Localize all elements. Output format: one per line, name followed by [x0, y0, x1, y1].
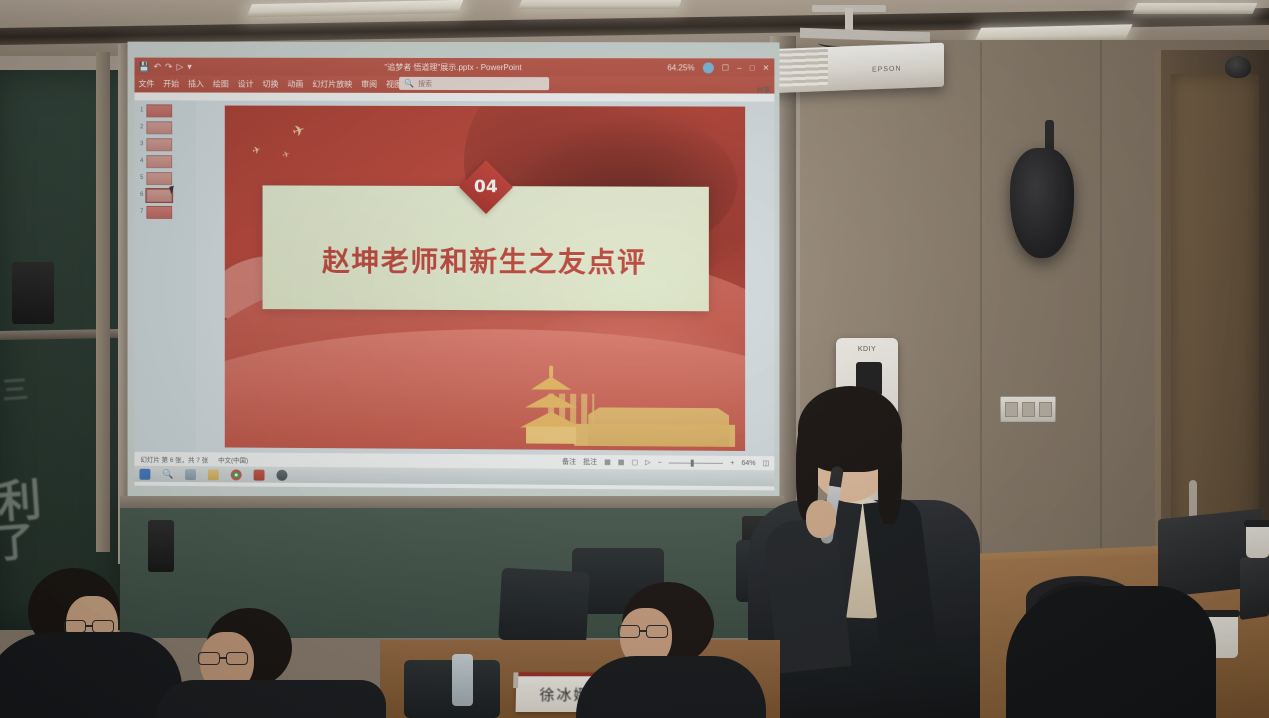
redo-icon[interactable]: ↷	[165, 62, 172, 71]
laptop	[1240, 554, 1269, 620]
start-slideshow-icon[interactable]: ▷	[176, 62, 183, 71]
tab-slideshow[interactable]: 幻灯片放映	[312, 79, 352, 90]
reading-view-icon[interactable]: ▢	[632, 458, 639, 466]
powerpoint-titlebar: 💾 ↶ ↷ ▷ ▾ "追梦者 悟道理"展示.pptx - PowerPoint …	[134, 58, 774, 77]
window-controls[interactable]: 64.25% ☐ – □ ✕	[667, 58, 772, 76]
slide-thumbnail[interactable]	[146, 104, 172, 117]
ceiling-light	[518, 0, 681, 9]
slide-number: 3	[137, 141, 143, 147]
projector-brand-label: EPSON	[872, 65, 902, 73]
file-explorer-icon[interactable]	[208, 469, 219, 480]
tab-animations[interactable]: 动画	[287, 79, 303, 90]
customize-icon[interactable]: ▾	[187, 62, 191, 71]
ceiling-light	[1133, 3, 1258, 14]
slide-thumbnail[interactable]	[146, 121, 172, 134]
chalkboard: 三 利 了	[0, 70, 130, 630]
mouse-cursor-icon	[169, 186, 176, 195]
wall-speaker-left	[12, 262, 54, 324]
notes-button[interactable]: 备注	[562, 457, 576, 467]
current-slide[interactable]: ✈ ✈ ✈	[225, 106, 745, 451]
temple-roof	[525, 393, 577, 407]
bird-icon: ✈	[281, 149, 292, 162]
zoom-slider-knob[interactable]	[691, 459, 694, 466]
start-icon[interactable]	[139, 468, 150, 479]
language-indicator[interactable]: 中文(中国)	[218, 454, 248, 464]
presenter-hand	[806, 500, 836, 538]
tab-review[interactable]: 审阅	[361, 79, 377, 90]
chair	[498, 568, 590, 645]
chrome-icon[interactable]	[231, 469, 242, 480]
search-icon[interactable]: 🔍	[162, 468, 173, 479]
tab-draw[interactable]: 绘图	[213, 79, 229, 90]
door-frame	[1155, 50, 1269, 570]
maximize-button[interactable]: □	[750, 63, 755, 72]
slide-thumbnail[interactable]	[146, 189, 172, 202]
ceiling-camera-dome	[1225, 56, 1251, 78]
glasses-lens	[226, 652, 248, 665]
list-item[interactable]: 5	[134, 171, 195, 185]
switch-button[interactable]	[1022, 402, 1035, 417]
slide-thumbnail[interactable]	[146, 138, 172, 151]
slide-sorter-view-icon[interactable]: ▦	[618, 458, 625, 466]
slide-thumbnail-pane[interactable]: 1 2 3 4 5	[134, 100, 195, 452]
tab-transitions[interactable]: 切换	[263, 79, 279, 90]
comments-button[interactable]: 批注	[583, 457, 597, 467]
slide-thumbnail[interactable]	[146, 205, 172, 218]
list-item[interactable]: 1	[134, 103, 195, 117]
quick-access-toolbar[interactable]: 💾 ↶ ↷ ▷ ▾	[134, 62, 191, 71]
presenter-hair	[878, 420, 902, 524]
search-placeholder: 搜索	[418, 78, 432, 88]
slide-number: 5	[137, 175, 143, 181]
switch-button[interactable]	[1005, 402, 1018, 417]
lower-speaker	[148, 520, 174, 572]
wall-mullion	[96, 52, 110, 552]
zoom-out-button[interactable]: −	[658, 459, 662, 466]
media-icon[interactable]	[276, 469, 287, 480]
slide-number: 1	[137, 107, 143, 113]
share-button[interactable]: 共享	[756, 86, 770, 96]
tab-insert[interactable]: 插入	[188, 79, 204, 90]
glasses-lens	[646, 625, 668, 638]
slide-thumbnail[interactable]	[146, 155, 172, 168]
list-item-selected[interactable]: 6	[134, 188, 195, 202]
wooden-door[interactable]	[1171, 74, 1259, 534]
task-view-icon[interactable]	[185, 469, 196, 480]
slide-thumbnail[interactable]	[146, 172, 172, 185]
zoom-in-button[interactable]: +	[730, 459, 734, 466]
wall-seam	[980, 42, 982, 562]
bird-icon: ✈	[251, 144, 262, 157]
powerpoint-window[interactable]: 💾 ↶ ↷ ▷ ▾ "追梦者 悟道理"展示.pptx - PowerPoint …	[134, 58, 774, 491]
ribbon-strip: 共享	[134, 92, 774, 101]
save-icon[interactable]: 💾	[138, 62, 149, 71]
list-item[interactable]: 3	[134, 137, 195, 151]
slide-number: 6	[137, 192, 143, 198]
normal-view-icon[interactable]: ▦	[604, 458, 611, 466]
slide-number: 4	[137, 158, 143, 164]
light-switch-plate[interactable]	[1000, 396, 1056, 422]
section-number-text: 04	[474, 177, 498, 197]
powerpoint-icon[interactable]	[254, 469, 265, 480]
slide-stage[interactable]: ✈ ✈ ✈	[196, 100, 774, 456]
eyeglasses-icon	[618, 625, 672, 637]
slide-number: 7	[137, 209, 143, 215]
classroom-photo: 三 利 了 KDIY EPSON 💾	[0, 0, 1269, 718]
tab-design[interactable]: 设计	[238, 79, 254, 90]
chalkboard-text: 了	[0, 509, 36, 570]
tab-home[interactable]: 开始	[163, 79, 179, 90]
zoom-slider[interactable]	[669, 462, 723, 463]
nameplate-leg	[513, 672, 518, 688]
cup-lid	[1244, 520, 1269, 527]
glasses-lens	[198, 652, 220, 665]
zoom-badge: 64.25%	[667, 63, 694, 72]
fit-to-window-icon[interactable]: ◫	[763, 459, 770, 467]
coffee-cup	[1246, 524, 1269, 558]
close-button[interactable]: ✕	[763, 63, 770, 72]
tab-file[interactable]: 文件	[138, 78, 154, 89]
powerpoint-body: 1 2 3 4 5	[134, 100, 774, 456]
glasses-lens	[618, 625, 640, 638]
minimize-button[interactable]: –	[737, 63, 741, 72]
audience-body	[0, 632, 182, 718]
temple-of-heaven-graphic	[520, 365, 582, 443]
switch-button[interactable]	[1039, 402, 1052, 417]
water-bottle	[452, 654, 473, 706]
status-bar-right[interactable]: 备注 批注 ▦ ▦ ▢ ▷ − + 64% ◫	[562, 457, 769, 468]
zoom-level-label[interactable]: 64%	[741, 460, 755, 467]
kdiy-brand-label: KDIY	[836, 346, 898, 353]
list-item[interactable]: 4	[134, 154, 195, 168]
projection-screen: 💾 ↶ ↷ ▷ ▾ "追梦者 悟道理"展示.pptx - PowerPoint …	[128, 42, 780, 505]
slideshow-view-icon[interactable]: ▷	[645, 458, 650, 466]
wall-seam	[1100, 40, 1102, 580]
chalkboard-text: 三	[1, 369, 30, 408]
bird-icon: ✈	[290, 120, 307, 141]
audience-body	[576, 656, 766, 718]
audience-body	[156, 680, 386, 718]
wall-speaker-right	[1010, 148, 1074, 258]
slide-number: 2	[137, 124, 143, 130]
temple-roof	[520, 411, 582, 427]
list-item[interactable]: 7	[134, 205, 195, 219]
ribbon-tabs[interactable]: 文件 开始 插入 绘图 设计 切换 动画 幻灯片放映 审阅 视图 录制 帮助 🔍…	[134, 75, 774, 93]
eyeglasses-icon	[198, 652, 252, 665]
search-icon: 🔍	[404, 79, 414, 88]
audience-body	[1006, 586, 1216, 718]
temple-roof	[531, 376, 571, 389]
ribbon-display-options-icon[interactable]: ☐	[722, 63, 729, 72]
temple-base	[526, 426, 576, 443]
slide-counter: 幻灯片 第 6 张，共 7 张	[140, 454, 208, 464]
slide-title-text: 赵坤老师和新生之友点评	[225, 239, 745, 281]
account-avatar[interactable]	[703, 62, 714, 73]
ribbon-search-box[interactable]: 🔍 搜索	[399, 77, 549, 90]
list-item[interactable]: 2	[134, 120, 195, 134]
undo-icon[interactable]: ↶	[154, 62, 161, 71]
